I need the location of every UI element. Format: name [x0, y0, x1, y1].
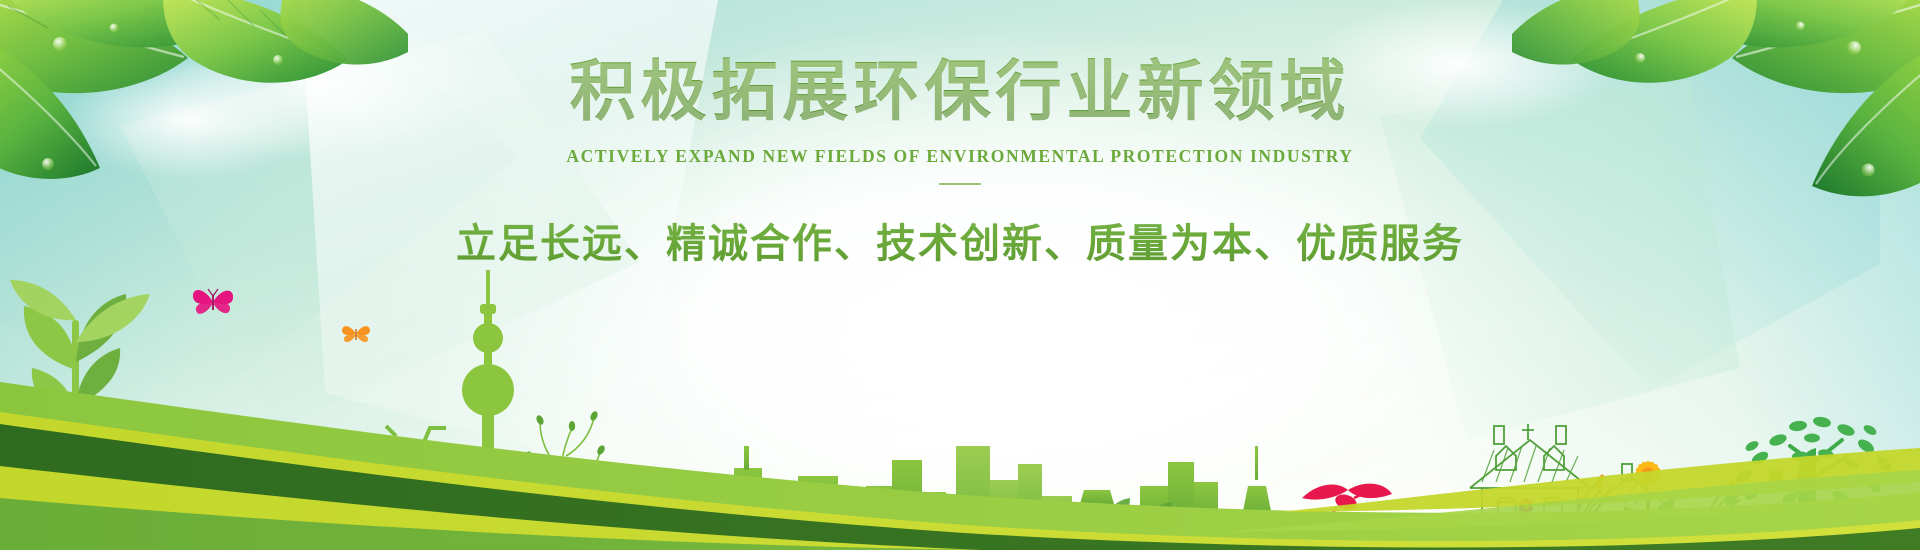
page-title: 积极拓展环保行业新领域: [0, 56, 1920, 130]
wave-band-icon: [0, 320, 1920, 550]
page-subtitle-en: ACTIVELY EXPAND NEW FIELDS OF ENVIRONMEN…: [0, 146, 1920, 167]
headline-block: 积极拓展环保行业新领域 ACTIVELY EXPAND NEW FIELDS O…: [0, 56, 1920, 269]
slogan-text: 立足长远、精诚合作、技术创新、质量为本、优质服务: [0, 211, 1920, 269]
environmental-banner: 积极拓展环保行业新领域 ACTIVELY EXPAND NEW FIELDS O…: [0, 0, 1920, 550]
title-divider: [939, 183, 981, 185]
